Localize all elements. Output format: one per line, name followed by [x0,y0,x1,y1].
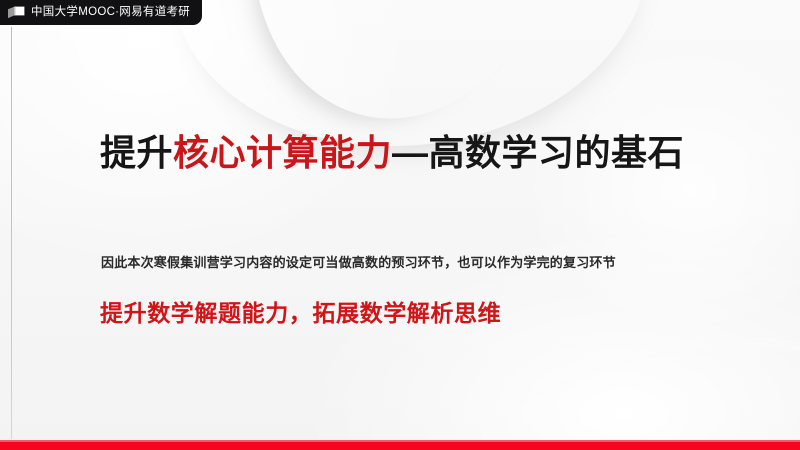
accent-statement: 提升数学解题能力，拓展数学解析思维 [100,294,501,328]
page-title: 提升核心计算能力—高数学习的基石 [100,132,684,174]
title-highlight: 核心计算能力 [173,132,392,173]
bottom-red-bar [0,440,800,450]
title-suffix: —高数学习的基石 [392,132,684,173]
book-icon [8,6,25,19]
logo-banner: 中国大学MOOC·网易有道考研 [0,0,202,25]
bottom-bar-sheen [0,440,800,442]
body-paragraph: 因此本次寒假集训营学习内容的设定可当做高数的预习环节，也可以作为学完的复习环节 [101,252,616,271]
title-prefix: 提升 [100,132,173,173]
slide-canvas: 中国大学MOOC·网易有道考研 提升核心计算能力—高数学习的基石 因此本次寒假集… [0,0,800,450]
left-vertical-rule [11,27,12,439]
logo-text: 中国大学MOOC·网易有道考研 [31,7,190,19]
